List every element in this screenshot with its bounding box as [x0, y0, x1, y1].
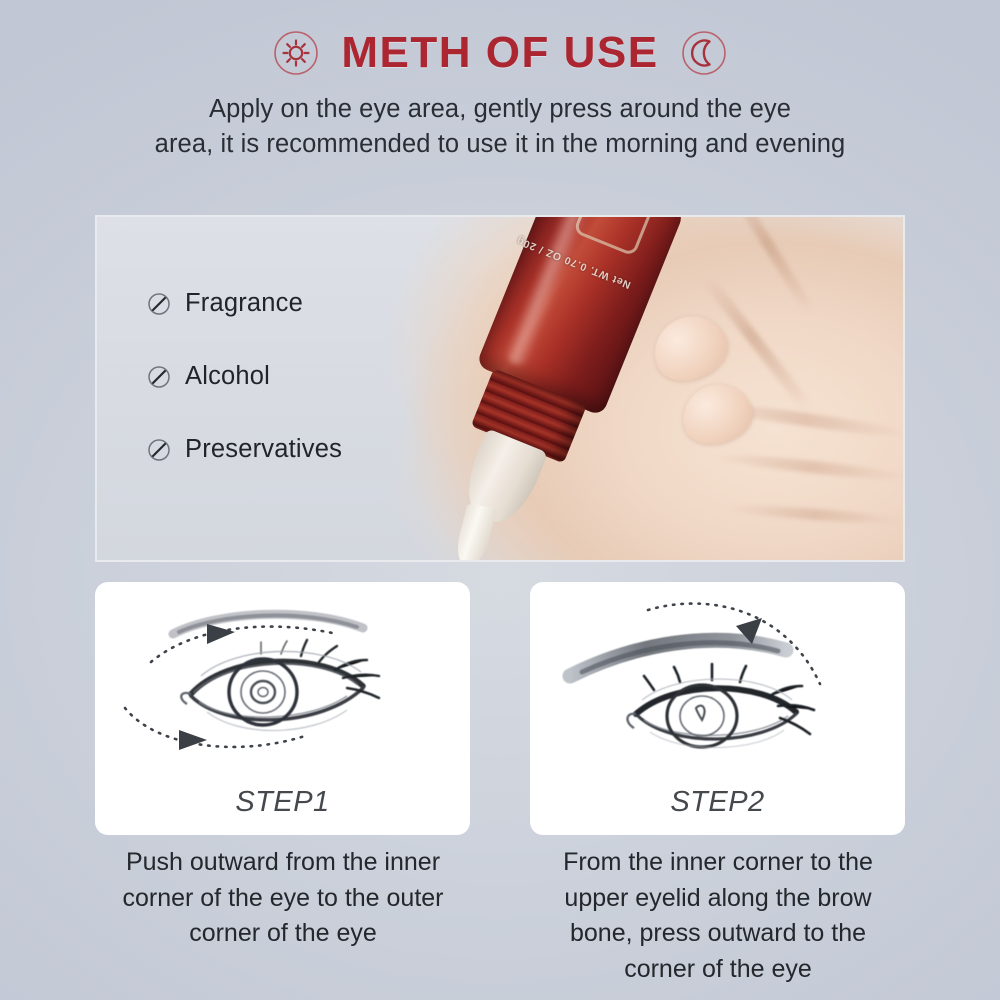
infographic-page: METH OF USE Apply on the eye area, gentl… [0, 0, 1000, 1000]
step-caption-2: From the inner corner to the upper eyeli… [518, 845, 918, 987]
no-entry-icon [147, 438, 171, 462]
eye-illustration-step1 [95, 588, 470, 763]
no-entry-icon [147, 365, 171, 389]
step-label: STEP2 [530, 786, 905, 819]
free-from-label: Fragrance [185, 289, 303, 318]
caption-line: corner of the eye [518, 952, 918, 988]
finger-shadow [728, 215, 817, 317]
header: METH OF USE Apply on the eye area, gentl… [0, 30, 1000, 162]
tube-applicator-tip [452, 504, 497, 562]
step-card-1: STEP1 [95, 582, 470, 835]
step-card-2: STEP2 [530, 582, 905, 835]
caption-line: upper eyelid along the brow [518, 881, 918, 917]
free-from-list: Fragrance Alcohol Pres [147, 289, 342, 464]
eye-illustration-step2 [530, 588, 905, 763]
palm-crease [712, 451, 905, 484]
product-hero-panel: Net WT. 0.70 OZ / 20g Fragrance [95, 215, 905, 562]
caption-line: bone, press outward to the [518, 916, 918, 952]
title-row: METH OF USE [0, 30, 1000, 76]
header-subtitle: Apply on the eye area, gently press arou… [0, 92, 1000, 162]
caption-line: corner of the eye to the outer [83, 881, 483, 917]
no-entry-icon [147, 292, 171, 316]
subtitle-line-2: area, it is recommended to use it in the… [0, 127, 1000, 162]
page-title: METH OF USE [341, 31, 658, 75]
step-label: STEP1 [95, 786, 470, 819]
caption-line: Push outward from the inner [83, 845, 483, 881]
subtitle-line-1: Apply on the eye area, gently press arou… [0, 92, 1000, 127]
list-item: Preservatives [147, 435, 342, 464]
fingernail [675, 376, 758, 451]
free-from-label: Alcohol [185, 362, 270, 391]
caption-line: corner of the eye [83, 916, 483, 952]
free-from-label: Preservatives [185, 435, 342, 464]
palm-crease [725, 503, 905, 527]
list-item: Fragrance [147, 289, 342, 318]
sun-icon [273, 30, 319, 76]
step-caption-1: Push outward from the inner corner of th… [83, 845, 483, 952]
list-item: Alcohol [147, 362, 342, 391]
caption-line: From the inner corner to the [518, 845, 918, 881]
moon-icon [681, 30, 727, 76]
